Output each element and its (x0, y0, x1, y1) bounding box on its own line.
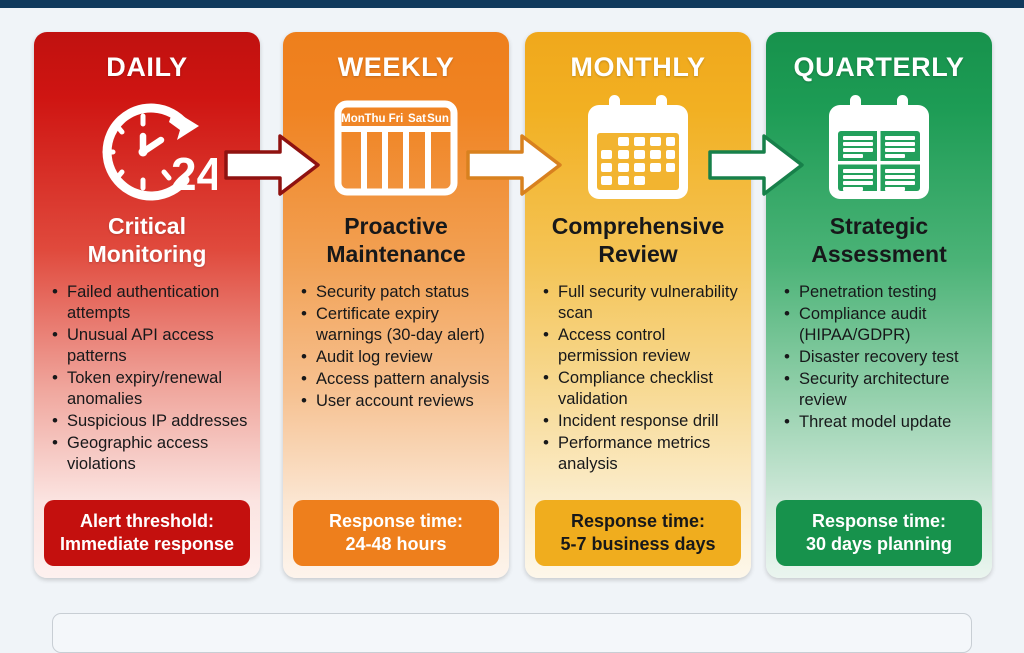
list-item: Failed authentication attempts (52, 282, 248, 324)
list-item: Audit log review (301, 347, 497, 368)
card-heading-quarterly: QUARTERLY (766, 32, 992, 83)
arrow-daily-to-weekly (222, 130, 322, 200)
list-item: Certificate expiry warnings (30-day aler… (301, 304, 497, 346)
card-title-line1: Strategic (830, 213, 928, 239)
infographic-canvas: DAILY 24 Critical Monitoring Failed auth… (0, 8, 1024, 630)
card-title-daily: Critical Monitoring (34, 213, 260, 268)
list-item: Security architecture review (784, 369, 980, 411)
bottom-panel (52, 613, 972, 653)
footer-line1: Alert threshold: (80, 511, 214, 531)
card-weekly[interactable]: WEEKLY Mon Thu Fri Sat Sun (283, 32, 509, 578)
footer-line1: Response time: (329, 511, 463, 531)
list-item: Access pattern analysis (301, 369, 497, 390)
list-item: Access control permission review (543, 325, 739, 367)
footer-badge-monthly: Response time: 5-7 business days (535, 500, 741, 566)
list-item: Compliance checklist validation (543, 368, 739, 410)
card-title-line2: Maintenance (326, 241, 465, 267)
card-title-line1: Critical (108, 213, 186, 239)
card-title-quarterly: Strategic Assessment (766, 213, 992, 268)
list-item: Penetration testing (784, 282, 980, 303)
footer-line1: Response time: (812, 511, 946, 531)
footer-line2: 30 days planning (806, 534, 952, 554)
list-item: Performance metrics analysis (543, 433, 739, 475)
list-item: Compliance audit (HIPAA/GDPR) (784, 304, 980, 346)
footer-badge-quarterly: Response time: 30 days planning (776, 500, 982, 566)
bullet-list-weekly: Security patch status Certificate expiry… (283, 282, 509, 500)
footer-badge-weekly: Response time: 24-48 hours (293, 500, 499, 566)
footer-line2: Immediate response (60, 534, 234, 554)
arrow-weekly-to-monthly (464, 130, 564, 200)
card-heading-weekly: WEEKLY (283, 32, 509, 83)
footer-line1: Response time: (571, 511, 705, 531)
card-title-line2: Assessment (811, 241, 947, 267)
footer-badge-daily: Alert threshold: Immediate response (44, 500, 250, 566)
card-title-line1: Comprehensive (552, 213, 725, 239)
footer-line2: 5-7 business days (560, 534, 715, 554)
list-item: Geographic access violations (52, 433, 248, 475)
list-item: User account reviews (301, 391, 497, 412)
day-label: Sat (408, 113, 426, 125)
list-item: Disaster recovery test (784, 347, 980, 368)
bullet-list-monthly: Full security vulnerability scan Access … (525, 282, 751, 500)
list-item: Full security vulnerability scan (543, 282, 739, 324)
list-item: Token expiry/renewal anomalies (52, 368, 248, 410)
list-item: Security patch status (301, 282, 497, 303)
day-label: Sun (427, 113, 449, 125)
list-item: Unusual API access patterns (52, 325, 248, 367)
card-title-line1: Proactive (344, 213, 448, 239)
card-daily[interactable]: DAILY 24 Critical Monitoring Failed auth… (34, 32, 260, 578)
card-title-line2: Review (598, 241, 677, 267)
card-title-line2: Monitoring (88, 241, 207, 267)
card-heading-monthly: MONTHLY (525, 32, 751, 83)
top-accent-bar (0, 0, 1024, 8)
bullet-list-daily: Failed authentication attempts Unusual A… (34, 282, 260, 500)
list-item: Threat model update (784, 412, 980, 433)
bullet-list-quarterly: Penetration testing Compliance audit (HI… (766, 282, 992, 500)
list-item: Suspicious IP addresses (52, 411, 248, 432)
arrow-monthly-to-quarterly (706, 130, 806, 200)
card-monthly[interactable]: MONTHLY (525, 32, 751, 578)
card-heading-daily: DAILY (34, 32, 260, 83)
card-title-monthly: Comprehensive Review (525, 213, 751, 268)
day-label: Fri (389, 113, 404, 125)
list-item: Incident response drill (543, 411, 739, 432)
day-label: Mon (341, 113, 365, 125)
footer-line2: 24-48 hours (345, 534, 446, 554)
day-label: Thu (364, 113, 385, 125)
card-title-weekly: Proactive Maintenance (283, 213, 509, 268)
svg-text:24: 24 (171, 148, 217, 200)
card-quarterly[interactable]: QUARTERLY (766, 32, 992, 578)
